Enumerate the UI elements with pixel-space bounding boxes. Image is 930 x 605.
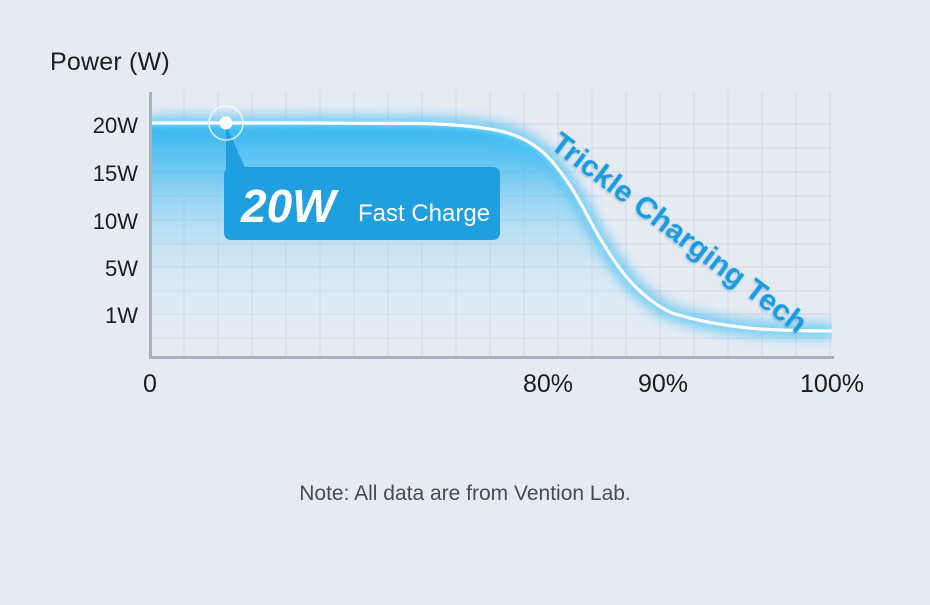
x-axis-ticks: 0 80% 90% 100% xyxy=(143,370,864,398)
x-tick-label: 90% xyxy=(638,370,688,398)
marker-dot xyxy=(220,117,233,130)
power-vs-charge-chart: 20W Fast Charge Trickle Charging Tech 20… xyxy=(0,0,930,605)
badge-power-value: 20W xyxy=(240,180,339,232)
badge-power-label: Fast Charge xyxy=(358,200,490,227)
y-tick-label: 5W xyxy=(105,256,138,281)
y-tick-label: 10W xyxy=(93,209,138,234)
y-tick-label: 20W xyxy=(93,113,138,138)
x-tick-label: 0 xyxy=(143,370,157,398)
x-tick-label: 100% xyxy=(800,370,864,398)
chart-page: Power (W) xyxy=(0,0,930,605)
y-axis-ticks: 20W 15W 10W 5W 1W xyxy=(93,113,138,328)
chart-note: Note: All data are from Vention Lab. xyxy=(0,482,930,506)
y-tick-label: 1W xyxy=(105,303,138,328)
x-tick-label: 80% xyxy=(523,370,573,398)
y-tick-label: 15W xyxy=(93,161,138,186)
